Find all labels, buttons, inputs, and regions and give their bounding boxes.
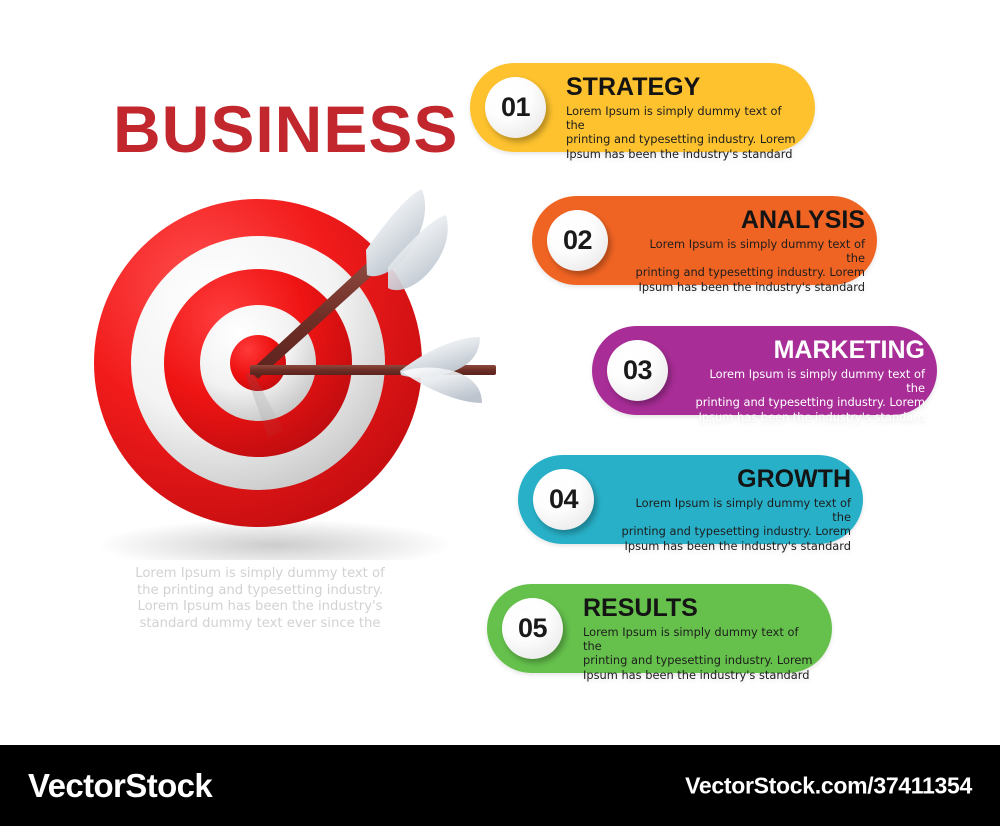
step-description: Lorem Ipsum is simply dummy text of the … xyxy=(583,625,820,682)
caption-line-1: Lorem Ipsum is simply dummy text of xyxy=(95,566,425,583)
step-description: Lorem Ipsum is simply dummy text of the … xyxy=(688,367,925,424)
desc-line-1: Lorem Ipsum is simply dummy text of the xyxy=(628,237,865,265)
desc-line-2: printing and typesetting industry. Lorem xyxy=(688,395,925,409)
caption-line-3: Lorem Ipsum has been the industry's xyxy=(95,599,425,616)
desc-line-3: Ipsum has been the industry's standard xyxy=(628,280,865,294)
watermark-footer: VectorStock VectorStock.com/37411354 xyxy=(0,745,1000,826)
step-number-badge-03: 03 xyxy=(607,340,668,401)
step-title: ANALYSIS xyxy=(628,206,865,235)
step-card-analysis[interactable]: 02 ANALYSIS Lorem Ipsum is simply dummy … xyxy=(532,196,877,285)
caption-line-4: standard dummy text ever since the xyxy=(95,616,425,633)
step-title: GROWTH xyxy=(614,465,851,494)
step-number-badge-04: 04 xyxy=(533,469,594,530)
step-number-text: 03 xyxy=(623,357,652,384)
step-card-body: RESULTS Lorem Ipsum is simply dummy text… xyxy=(583,594,820,682)
watermark-reference: VectorStock.com/37411354 xyxy=(685,772,972,799)
board-caption: Lorem Ipsum is simply dummy text of the … xyxy=(95,566,425,632)
step-title: RESULTS xyxy=(583,594,820,623)
desc-line-3: Ipsum has been the industry's standard xyxy=(688,410,925,424)
caption-line-2: the printing and typesetting industry. xyxy=(95,583,425,600)
watermark-brand: VectorStock xyxy=(28,767,212,805)
step-card-marketing[interactable]: 03 MARKETING Lorem Ipsum is simply dummy… xyxy=(592,326,937,415)
step-description: Lorem Ipsum is simply dummy text of the … xyxy=(566,104,803,161)
desc-line-3: Ipsum has been the industry's standard xyxy=(583,668,820,682)
step-number-badge-02: 02 xyxy=(547,210,608,271)
step-card-body: MARKETING Lorem Ipsum is simply dummy te… xyxy=(688,336,925,424)
step-card-body: ANALYSIS Lorem Ipsum is simply dummy tex… xyxy=(628,206,865,294)
step-card-body: STRATEGY Lorem Ipsum is simply dummy tex… xyxy=(566,73,803,161)
desc-line-3: Ipsum has been the industry's standard xyxy=(566,147,803,161)
desc-line-2: printing and typesetting industry. Lorem xyxy=(566,132,803,146)
desc-line-3: Ipsum has been the industry's standard xyxy=(614,539,851,553)
page-title: BUSINESS xyxy=(113,96,458,162)
desc-line-2: printing and typesetting industry. Lorem xyxy=(628,265,865,279)
step-description: Lorem Ipsum is simply dummy text of the … xyxy=(628,237,865,294)
step-number-text: 02 xyxy=(563,227,592,254)
desc-line-1: Lorem Ipsum is simply dummy text of the xyxy=(583,625,820,653)
step-number-badge-01: 01 xyxy=(485,77,546,138)
desc-line-1: Lorem Ipsum is simply dummy text of the xyxy=(614,496,851,524)
step-number-text: 04 xyxy=(549,486,578,513)
desc-line-2: printing and typesetting industry. Lorem xyxy=(614,524,851,538)
step-description: Lorem Ipsum is simply dummy text of the … xyxy=(614,496,851,553)
step-title: STRATEGY xyxy=(566,73,803,102)
step-title: MARKETING xyxy=(688,336,925,365)
step-number-text: 01 xyxy=(501,94,530,121)
desc-line-1: Lorem Ipsum is simply dummy text of the xyxy=(688,367,925,395)
desc-line-1: Lorem Ipsum is simply dummy text of the xyxy=(566,104,803,132)
step-number-text: 05 xyxy=(518,615,547,642)
infographic-canvas: BUSINESS xyxy=(0,0,1000,826)
step-card-strategy[interactable]: 01 STRATEGY Lorem Ipsum is simply dummy … xyxy=(470,63,815,152)
step-card-growth[interactable]: 04 GROWTH Lorem Ipsum is simply dummy te… xyxy=(518,455,863,544)
dartboard-illustration xyxy=(70,175,530,560)
step-card-body: GROWTH Lorem Ipsum is simply dummy text … xyxy=(614,465,851,553)
desc-line-2: printing and typesetting industry. Lorem xyxy=(583,653,820,667)
step-card-results[interactable]: 05 RESULTS Lorem Ipsum is simply dummy t… xyxy=(487,584,832,673)
step-number-badge-05: 05 xyxy=(502,598,563,659)
